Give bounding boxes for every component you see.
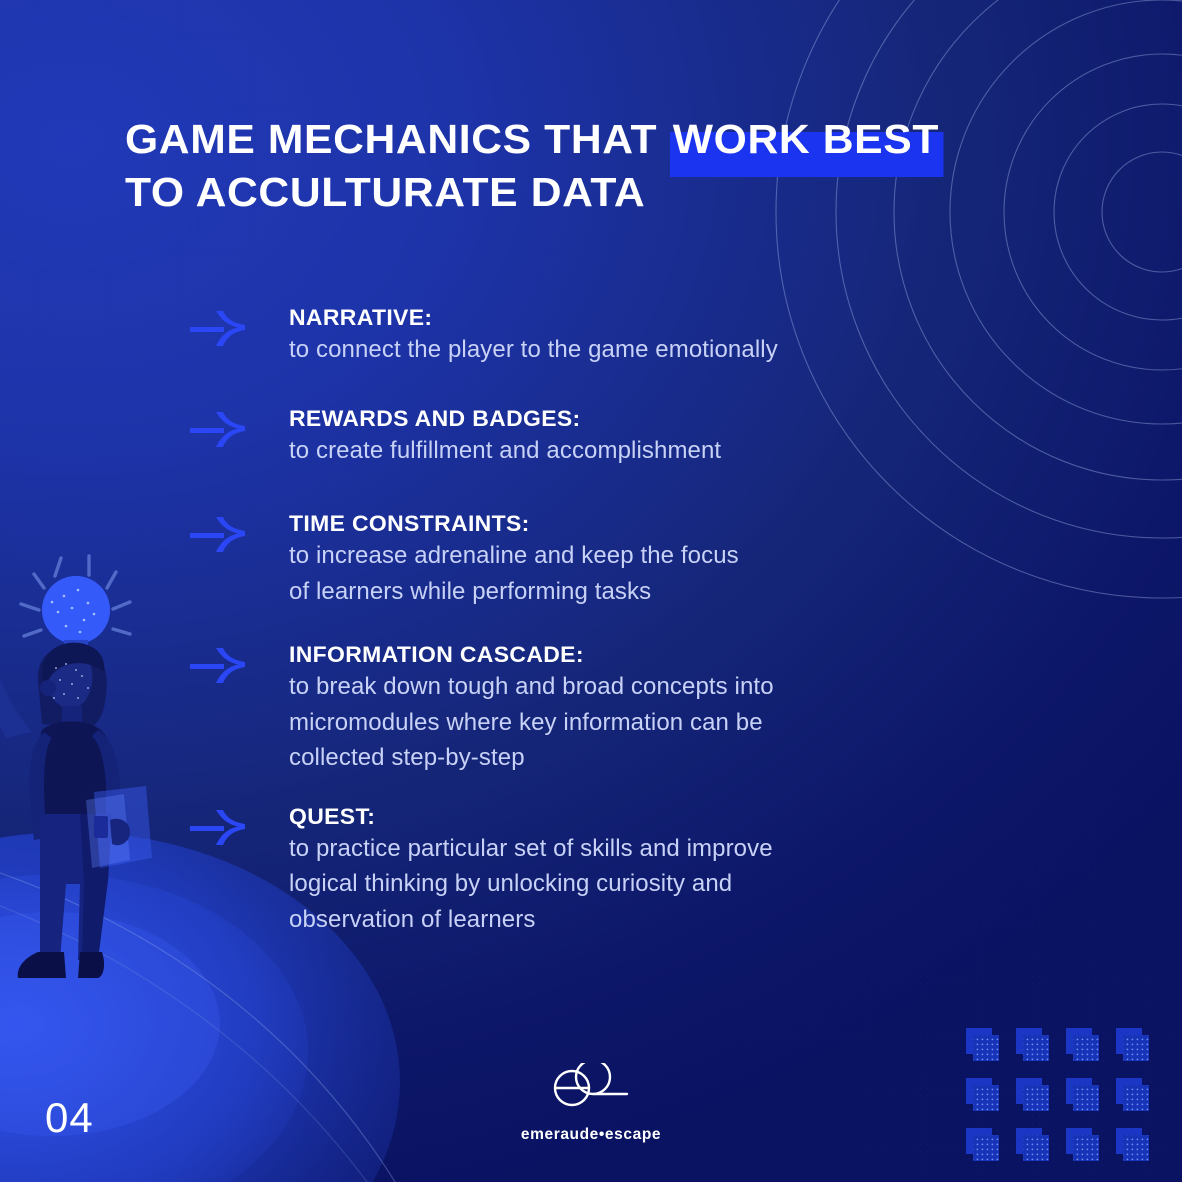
list-item-heading: INFORMATION CASCADE: xyxy=(289,640,1045,669)
list-item-body: INFORMATION CASCADE: to break down tough… xyxy=(252,640,1030,776)
arrow-right-icon xyxy=(190,509,252,553)
list-item: TIME CONSTRAINTS: to increase adrenaline… xyxy=(190,509,1030,609)
title-line-1: GAME MECHANICS THAT WORK BEST xyxy=(125,113,1040,166)
spacer xyxy=(190,776,1030,802)
description-line: to connect the player to the game emotio… xyxy=(289,332,1030,368)
title-line-1-plain: GAME MECHANICS THAT xyxy=(125,116,670,162)
description-line: to practice particular set of skills and… xyxy=(289,831,1030,867)
spacer xyxy=(190,468,1030,509)
list-item-body: REWARDS AND BADGES: to create fulfillmen… xyxy=(252,404,1030,469)
list-item-description: to break down tough and broad concepts i… xyxy=(289,669,1030,776)
list-item-body: NARRATIVE: to connect the player to the … xyxy=(252,303,1030,368)
arrow-right-icon xyxy=(190,802,252,846)
description-line: of learners while performing tasks xyxy=(289,574,1030,610)
list-item-heading: QUEST: xyxy=(289,802,1045,831)
list-item-heading: NARRATIVE: xyxy=(289,303,1045,332)
infinity-ee-monogram-icon xyxy=(543,1063,639,1119)
list-item-heading: TIME CONSTRAINTS: xyxy=(289,509,1045,538)
list-item-heading: REWARDS AND BADGES: xyxy=(289,404,1045,433)
list-item-body: QUEST: to practice particular set of ski… xyxy=(252,802,1030,938)
description-line: to increase adrenaline and keep the focu… xyxy=(289,538,1030,574)
list-item: INFORMATION CASCADE: to break down tough… xyxy=(190,640,1030,776)
arrow-right-icon xyxy=(190,303,252,347)
brand-logo: emeraude•escape xyxy=(0,1063,1182,1144)
list-item: QUEST: to practice particular set of ski… xyxy=(190,802,1030,938)
list-item: REWARDS AND BADGES: to create fulfillmen… xyxy=(190,404,1030,469)
spacer xyxy=(190,609,1030,640)
spacer xyxy=(190,368,1030,404)
description-line: to create fulfillment and accomplishment xyxy=(289,433,1030,469)
person-with-lightbulb-illustration xyxy=(0,548,204,1008)
list-item-description: to connect the player to the game emotio… xyxy=(289,332,1030,368)
description-line: to break down tough and broad concepts i… xyxy=(289,669,1030,705)
description-line: observation of learners xyxy=(289,902,1030,938)
list-item-description: to practice particular set of skills and… xyxy=(289,831,1030,938)
list-item-body: TIME CONSTRAINTS: to increase adrenaline… xyxy=(252,509,1030,609)
list-item: NARRATIVE: to connect the player to the … xyxy=(190,303,1030,368)
arrow-right-icon xyxy=(190,640,252,684)
slide: GAME MECHANICS THAT WORK BEST TO ACCULTU… xyxy=(0,0,1182,1182)
list-item-description: to increase adrenaline and keep the focu… xyxy=(289,538,1030,609)
description-line: logical thinking by unlocking curiosity … xyxy=(289,866,1030,902)
page-title: GAME MECHANICS THAT WORK BEST TO ACCULTU… xyxy=(125,113,1005,219)
title-line-2: TO ACCULTURATE DATA xyxy=(125,166,1040,219)
brand-logo-text: emeraude•escape xyxy=(521,1126,661,1144)
title-highlight: WORK BEST xyxy=(670,113,943,166)
list-item-description: to create fulfillment and accomplishment xyxy=(289,433,1030,469)
description-line: collected step-by-step xyxy=(289,740,1030,776)
description-line: micromodules where key information can b… xyxy=(289,705,1030,741)
arrow-right-icon xyxy=(190,404,252,448)
mechanics-list: NARRATIVE: to connect the player to the … xyxy=(190,303,1030,937)
